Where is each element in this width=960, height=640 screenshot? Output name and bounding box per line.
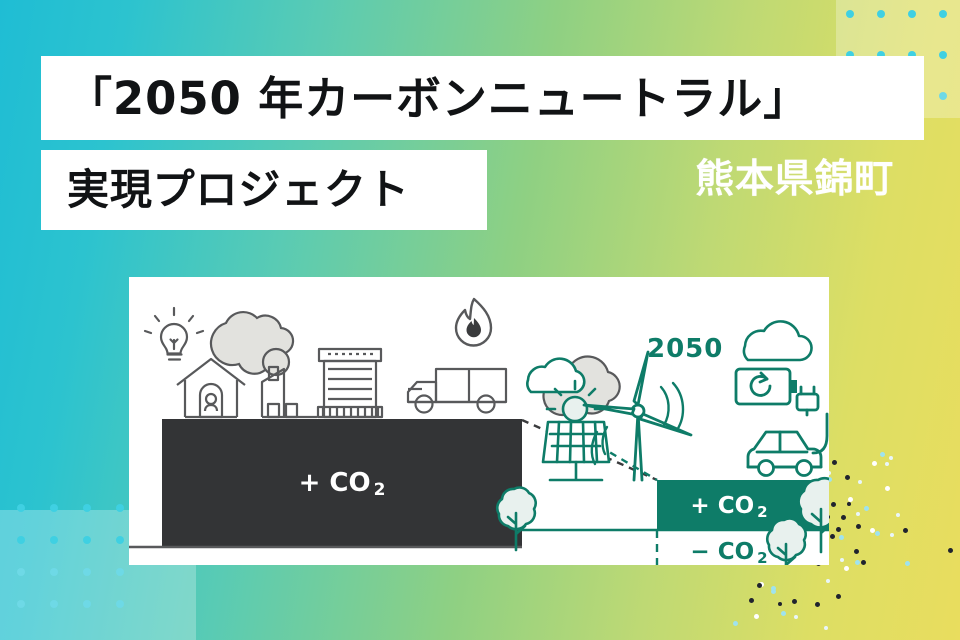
dot-grid-bottom-left [0,480,140,640]
decorative-dot [50,600,58,608]
confetti-dot [885,462,889,466]
confetti-dot [836,527,841,532]
confetti-dot [896,513,900,517]
decorative-dot [50,504,58,512]
flame-icon [456,299,491,346]
decorative-dot [83,536,91,544]
confetti-dot [733,621,738,626]
year-label: 2050 [647,334,723,364]
decorative-dot [17,600,25,608]
confetti-dot [794,615,798,619]
decorative-dot [116,568,124,576]
confetti-dot [870,528,875,533]
confetti-dot [858,480,862,484]
poster-root: 「2050 年カーボンニュートラル」 実現プロジェクト 熊本県錦町 [0,0,960,640]
region-label: 熊本県錦町 [695,160,894,199]
decorative-dot [116,536,124,544]
confetti-dot [855,560,860,565]
house-icon [177,359,245,417]
confetti-dot [841,515,846,520]
confetti-dot [847,502,851,506]
page-title-line-2: 実現プロジェクト [67,169,410,211]
office-building-icon [318,349,382,417]
confetti-dot [861,560,866,565]
confetti-dot [771,589,776,594]
confetti-dot [815,602,820,607]
confetti-dot [890,533,894,537]
confetti-dot [844,566,849,571]
decorative-dot [877,10,885,18]
decorative-dot [116,504,124,512]
confetti-dot [759,582,764,587]
confetti-dot [792,599,797,604]
confetti-dot [848,497,853,502]
decorative-dot [83,568,91,576]
decorative-dot [50,568,58,576]
confetti-dot [749,598,754,603]
smoke-cloud-icon [211,312,293,375]
decorative-dot [939,51,947,59]
decorative-dot [846,10,854,18]
confetti-dot [905,561,910,566]
cloud-icon [744,321,812,360]
lightbulb-icon [145,308,203,360]
confetti-dot [781,611,786,616]
confetti-dot [854,549,859,554]
decorative-dot [908,10,916,18]
confetti-dot [885,486,890,491]
confetti-dot [845,475,850,480]
illustration-panel: + CO2 2050 [129,277,829,565]
confetti-dot [903,528,908,533]
confetti-dot [831,502,836,507]
tree-icon [767,519,805,565]
decorative-dot [17,504,25,512]
decorative-dot [17,536,25,544]
confetti-dot [875,531,880,536]
confetti-dot [880,452,885,457]
absorption-label: − CO2 [690,539,767,565]
confetti-dot [948,548,953,553]
confetti-dot [754,614,759,619]
confetti-dot [864,506,869,511]
decorative-dot [939,92,947,100]
confetti-dot [856,512,860,516]
page-title-line-1: 「2050 年カーボンニュートラル」 [67,76,809,121]
confetti-dot [836,594,841,599]
title-box-primary: 「2050 年カーボンニュートラル」 [41,56,924,140]
confetti-dot [778,602,782,606]
decorative-dot [939,10,947,18]
decorative-dot [83,600,91,608]
carbon-neutral-diagram: + CO2 2050 [129,277,829,565]
confetti-dot [840,558,844,562]
title-box-secondary: 実現プロジェクト [41,150,487,230]
confetti-dot [856,524,861,529]
truck-icon [408,369,506,413]
decorative-dot [17,568,25,576]
confetti-dot [826,579,830,583]
confetti-dot [889,456,893,460]
confetti-dot [757,583,762,588]
rechargeable-battery-icon [736,369,797,404]
confetti-dot [824,626,828,630]
decorative-dot [50,536,58,544]
confetti-dot [872,461,877,466]
confetti-dot [830,534,835,539]
confetti-dot [832,460,837,465]
confetti-dot [771,586,776,591]
decorative-dot [116,600,124,608]
confetti-dot [839,535,844,540]
decorative-dot [83,504,91,512]
